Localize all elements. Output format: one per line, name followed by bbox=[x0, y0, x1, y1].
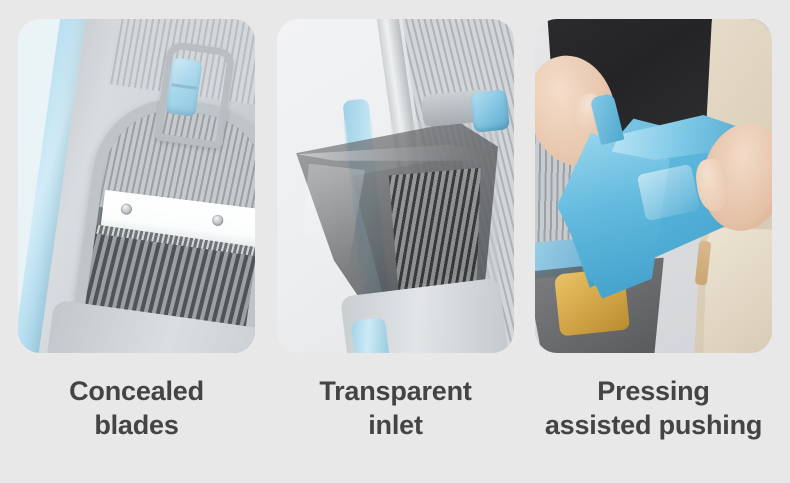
caption-line-1: Pressing bbox=[519, 374, 788, 408]
caption-line-1: Concealed bbox=[18, 374, 255, 408]
caption-pressing-assisted-pushing: Pressing assisted pushing bbox=[519, 374, 788, 442]
feature-panel-concealed-blades bbox=[18, 19, 255, 353]
caption-line-1: Transparent bbox=[277, 374, 514, 408]
feature-panel-transparent-inlet bbox=[277, 19, 514, 353]
caption-transparent-inlet: Transparent inlet bbox=[277, 374, 514, 442]
blade-screw-left bbox=[120, 203, 132, 215]
caption-line-2: blades bbox=[18, 408, 255, 442]
feature-panel-pressing-assisted-pushing bbox=[535, 19, 772, 353]
caption-concealed-blades: Concealed blades bbox=[18, 374, 255, 442]
caption-line-2: assisted pushing bbox=[519, 408, 788, 442]
inlet-blue-clip bbox=[470, 89, 510, 133]
product-feature-banner: Concealed blades Transparent inlet Press… bbox=[0, 0, 790, 483]
caption-line-2: inlet bbox=[277, 408, 514, 442]
blade-screw-right bbox=[212, 215, 224, 227]
hopper-ribbed-floor bbox=[383, 168, 485, 298]
